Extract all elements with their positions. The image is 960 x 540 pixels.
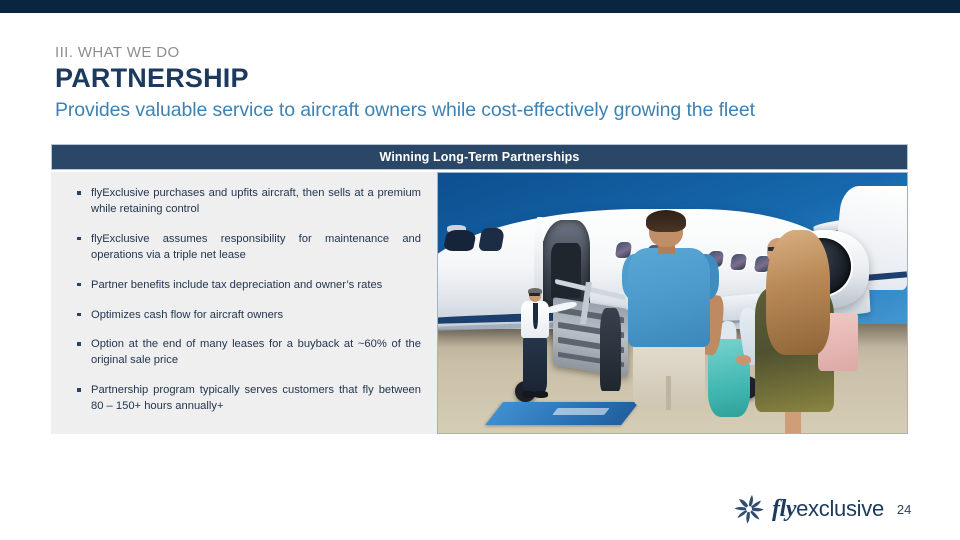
list-item: Partnership program typically serves cus… — [67, 383, 421, 415]
list-item-text: Optimizes cash flow for aircraft owners — [91, 309, 283, 321]
bullet-square-icon — [77, 283, 81, 287]
photo-pilot-shoe — [534, 391, 548, 397]
content-row: flyExclusive purchases and upfits aircra… — [51, 172, 908, 434]
list-item-text: flyExclusive purchases and upfits aircra… — [91, 187, 421, 215]
list-item-text: flyExclusive assumes responsibility for … — [91, 233, 421, 261]
list-item: Partner benefits include tax depreciatio… — [67, 278, 421, 294]
photo-woman-hand — [736, 355, 751, 365]
photo-cabin-interior — [551, 243, 581, 298]
photo-pilot-tie — [533, 303, 538, 329]
list-item: flyExclusive assumes responsibility for … — [67, 232, 421, 264]
photo-woman-hair — [766, 230, 829, 355]
page-title: PARTNERSHIP — [55, 62, 915, 95]
photo-cockpit-window — [443, 230, 478, 251]
photo-pilot-sunglasses — [529, 293, 540, 295]
bullet-panel: flyExclusive purchases and upfits aircra… — [51, 172, 437, 434]
slide: III. WHAT WE DO PARTNERSHIP Provides val… — [0, 0, 960, 540]
photo-man-shorts-seam — [666, 376, 671, 410]
list-item-text: Option at the end of many leases for a b… — [91, 338, 421, 366]
brand-logo-text: flyexclusive — [772, 496, 884, 523]
bullet-square-icon — [77, 237, 81, 241]
photo-man-polo-shirt — [628, 248, 710, 347]
section-banner-label: Winning Long-Term Partnerships — [380, 150, 580, 164]
photo-carpet-branding — [553, 408, 610, 415]
bullet-square-icon — [77, 342, 81, 346]
section-banner: Winning Long-Term Partnerships — [51, 144, 908, 170]
photo-man-hair — [646, 210, 686, 232]
list-item: flyExclusive purchases and upfits aircra… — [67, 186, 421, 218]
footer-branding: flyexclusive 24 — [733, 489, 923, 529]
list-item-text: Partner benefits include tax depreciatio… — [91, 279, 382, 291]
photo-pilot-trousers — [523, 336, 546, 393]
list-item-text: Partnership program typically serves cus… — [91, 384, 421, 412]
bullet-list: flyExclusive purchases and upfits aircra… — [67, 186, 421, 415]
page-number: 24 — [897, 502, 911, 517]
bullet-square-icon — [77, 313, 81, 317]
page-subtitle: Provides valuable service to aircraft ow… — [55, 98, 915, 123]
section-eyebrow: III. WHAT WE DO — [55, 44, 915, 61]
brand-fly: fly — [772, 496, 796, 522]
turbine-swirl-icon — [733, 493, 765, 525]
list-item: Optimizes cash flow for aircraft owners — [67, 308, 421, 324]
top-accent-bar — [0, 0, 960, 13]
list-item: Option at the end of many leases for a b… — [67, 337, 421, 369]
jet-boarding-photo — [437, 172, 908, 434]
slide-header: III. WHAT WE DO PARTNERSHIP Provides val… — [55, 44, 915, 124]
photo-cockpit-window — [478, 228, 506, 251]
bullet-square-icon — [77, 191, 81, 195]
photo-background-person — [600, 308, 622, 391]
brand-exclusive: exclusive — [796, 496, 884, 521]
bullet-square-icon — [77, 388, 81, 392]
